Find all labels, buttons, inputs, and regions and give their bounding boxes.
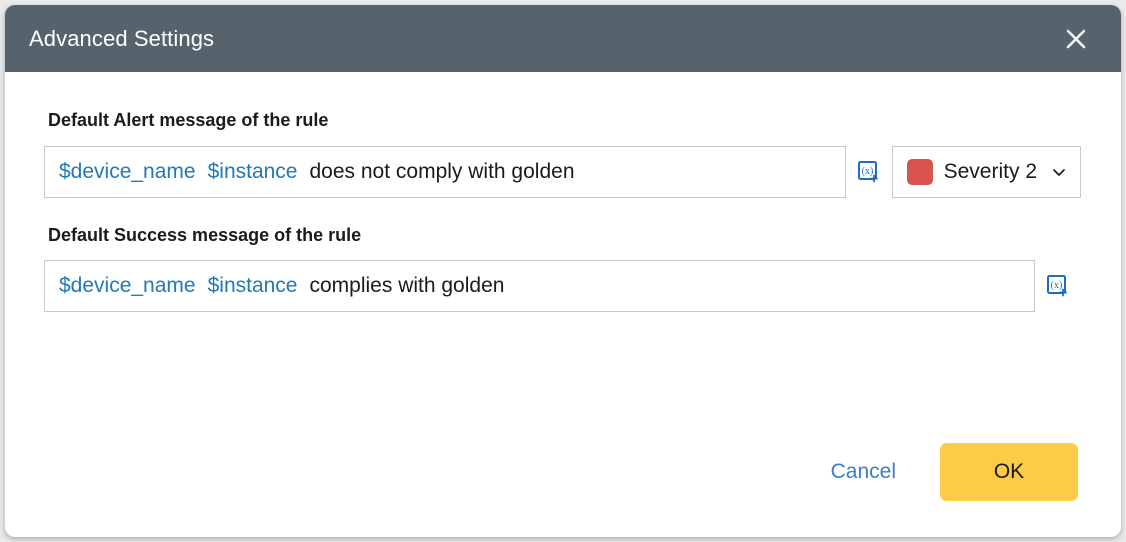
variable-token-instance: $instance [208,160,298,184]
success-message-label: Default Success message of the rule [48,225,1081,247]
close-button[interactable] [1059,22,1093,56]
page-title: Advanced Settings [29,28,214,50]
success-message-row: $device_name$instancecomplies with golde… [44,260,1081,312]
alert-message-label: Default Alert message of the rule [48,110,1081,132]
severity-dropdown[interactable]: Severity 2 [892,146,1081,198]
variable-token-instance: $instance [208,274,298,298]
variable-token-device-name: $device_name [59,160,196,184]
insert-variable-icon[interactable]: (x) [858,161,880,183]
close-icon [1063,26,1089,52]
success-message-input[interactable]: $device_name$instancecomplies with golde… [44,260,1035,312]
variable-token-device-name: $device_name [59,274,196,298]
dialog-footer: Cancel OK [5,443,1121,537]
svg-text:(x): (x) [1051,280,1063,291]
advanced-settings-dialog: Advanced Settings Default Alert message … [5,5,1121,537]
dialog-body: Default Alert message of the rule $devic… [5,72,1121,443]
success-message-text: complies with golden [310,274,505,298]
severity-selected-label: Severity 2 [944,160,1037,184]
chevron-down-icon [1050,163,1068,181]
cancel-button[interactable]: Cancel [809,450,918,494]
svg-text:(x): (x) [861,166,873,177]
alert-message-input[interactable]: $device_name$instancedoes not comply wit… [44,146,846,198]
ok-button[interactable]: OK [940,443,1078,501]
insert-variable-icon[interactable]: (x) [1047,275,1069,297]
alert-message-row: $device_name$instancedoes not comply wit… [44,146,1081,198]
severity-color-swatch [907,159,933,185]
dialog-header: Advanced Settings [5,5,1121,72]
alert-message-text: does not comply with golden [310,160,575,184]
